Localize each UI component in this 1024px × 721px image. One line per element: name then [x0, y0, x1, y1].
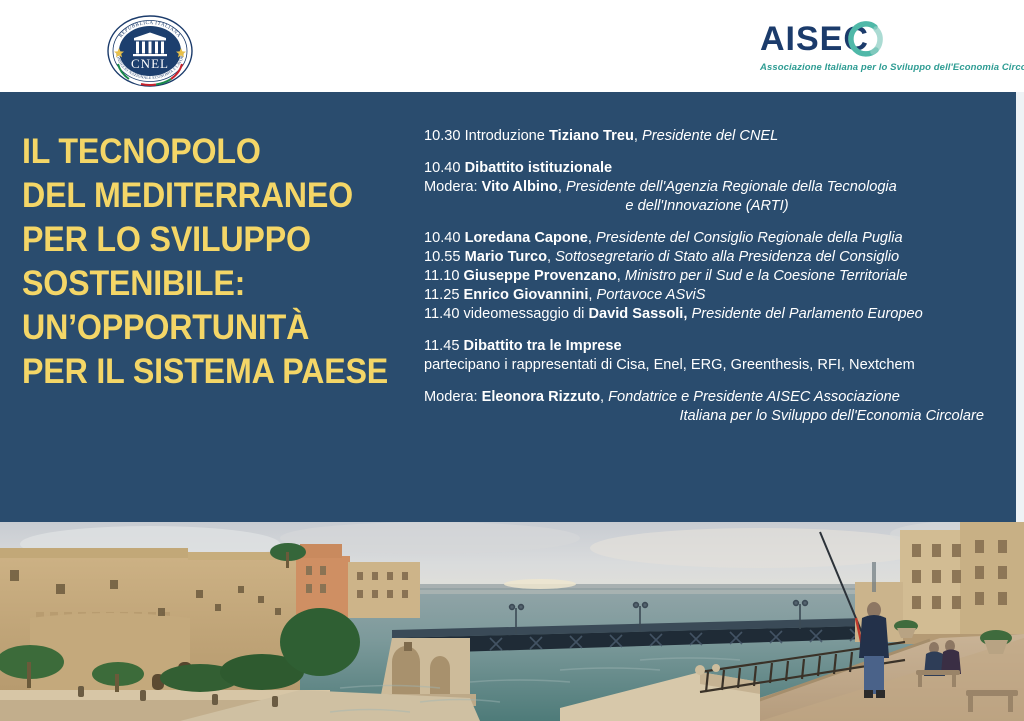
speaker-role: Sottosegretario di Stato alla Presidenza… — [555, 249, 899, 265]
comma: , — [600, 389, 604, 405]
title-line-6: PER IL SISTEMA PAESE — [22, 350, 372, 394]
companies-participants: partecipano i rappresentati di Cisa, Ene… — [424, 356, 990, 375]
speaker-time: 10.55 — [424, 249, 461, 265]
speaker-time: 11.40 — [424, 306, 459, 322]
speaker-time: 11.10 — [424, 268, 459, 284]
cnel-logo: CNEL REPUBBLICA ITALIANA CONSIGLIO NAZIO… — [96, 14, 204, 88]
svg-text:CNEL: CNEL — [131, 56, 169, 71]
speaker-role: Presidente del Consiglio Regionale della… — [596, 230, 903, 246]
taranto-waterfront-photo — [0, 522, 1024, 721]
comma: , — [634, 128, 638, 144]
moderator2-role-line2: Italiana per lo Sviluppo dell'Economia C… — [424, 407, 990, 426]
speaker-role: Portavoce ASviS — [597, 287, 706, 303]
program-line: e dell'Innovazione (ARTI) — [424, 197, 990, 216]
intro-name: Tiziano Treu — [549, 128, 634, 144]
title-line-5: UN’OPPORTUNITÀ — [22, 306, 372, 350]
program-line: Italiana per lo Sviluppo dell'Economia C… — [424, 407, 990, 426]
comma: , — [588, 230, 592, 246]
poster-title: IL TECNOPOLO DEL MEDITERRANEO PER LO SVI… — [22, 130, 372, 394]
title-line-2: DEL MEDITERRANEO — [22, 174, 372, 218]
comma: , — [547, 249, 551, 265]
debate-time: 10.40 — [424, 160, 461, 176]
program-item-institutional-debate: 10.40 Dibattito istituzionale Modera: Vi… — [424, 159, 990, 216]
moderator-name: Vito Albino — [482, 179, 558, 195]
intro-time: 10.30 — [424, 128, 461, 144]
debate-heading: Dibattito istituzionale — [465, 160, 613, 176]
title-line-3: PER LO SVILUPPO — [22, 218, 372, 262]
program-line: 10.40 Dibattito istituzionale — [424, 159, 990, 178]
moderator2-name: Eleonora Rizzuto — [482, 389, 600, 405]
comma: , — [617, 268, 621, 284]
speaker-row: 11.25 Enrico Giovannini, Portavoce ASviS — [424, 286, 990, 305]
intro-role: Presidente del CNEL — [642, 128, 778, 144]
companies-time: 11.45 — [424, 338, 459, 354]
companies-heading: Dibattito tra le Imprese — [464, 338, 622, 354]
moderator-role-line2: e dell'Innovazione (ARTI) — [424, 197, 990, 216]
program-schedule: 10.30 Introduzione Tiziano Treu, Preside… — [424, 127, 990, 426]
moderator2-role-line1: Fondatrice e Presidente AISEC Associazio… — [608, 389, 900, 405]
speaker-row: 10.40 Loredana Capone, Presidente del Co… — [424, 229, 990, 248]
speaker-name: Enrico Giovannini — [464, 287, 589, 303]
aisec-tagline: Associazione Italiana per lo Sviluppo de… — [760, 62, 1024, 73]
poster-header: CNEL REPUBBLICA ITALIANA CONSIGLIO NAZIO… — [0, 0, 1024, 92]
moderator-role-line1: Presidente dell'Agenzia Regionale della … — [566, 179, 897, 195]
speaker-role: Presidente del Parlamento Europeo — [691, 306, 922, 322]
moderator2-label: Modera: — [424, 389, 478, 405]
program-speakers-list: 10.40 Loredana Capone, Presidente del Co… — [424, 229, 990, 324]
speaker-prefix: videomessaggio di — [464, 306, 585, 322]
program-moderator-companies: Modera: Eleonora Rizzuto, Fondatrice e P… — [424, 388, 990, 426]
intro-action: Introduzione — [465, 128, 545, 144]
program-line: Modera: Eleonora Rizzuto, Fondatrice e P… — [424, 388, 990, 407]
speaker-role: Ministro per il Sud e la Coesione Territ… — [625, 268, 908, 284]
event-poster: CNEL REPUBBLICA ITALIANA CONSIGLIO NAZIO… — [0, 0, 1024, 721]
program-item-companies-debate: 11.45 Dibattito tra le Imprese partecipa… — [424, 337, 990, 375]
aisec-logo: AISEC Associazione Italiana per lo Svilu… — [756, 22, 998, 80]
speaker-name: Giuseppe Provenzano — [464, 268, 617, 284]
program-item-introduction: 10.30 Introduzione Tiziano Treu, Preside… — [424, 127, 990, 146]
main-navy-panel: IL TECNOPOLO DEL MEDITERRANEO PER LO SVI… — [0, 92, 1016, 522]
moderator-label: Modera: — [424, 179, 478, 195]
speaker-row: 10.55 Mario Turco, Sottosegretario di St… — [424, 248, 990, 267]
speaker-name: David Sassoli, — [588, 306, 687, 322]
panel-right-edge — [1016, 92, 1024, 522]
waterfront-illustration — [0, 522, 1024, 721]
comma: , — [588, 287, 592, 303]
title-line-4: SOSTENIBILE: — [22, 262, 372, 306]
speaker-time: 10.40 — [424, 230, 461, 246]
cnel-emblem-icon: CNEL REPUBBLICA ITALIANA CONSIGLIO NAZIO… — [96, 14, 204, 88]
speaker-row: 11.10 Giuseppe Provenzano, Ministro per … — [424, 267, 990, 286]
speaker-time: 11.25 — [424, 287, 459, 303]
title-line-1: IL TECNOPOLO — [22, 130, 372, 174]
comma: , — [558, 179, 562, 195]
speaker-name: Loredana Capone — [465, 230, 588, 246]
speaker-row: 11.40 videomessaggio di David Sassoli, P… — [424, 305, 990, 324]
program-line: 10.30 Introduzione Tiziano Treu, Preside… — [424, 127, 990, 146]
program-line: 11.45 Dibattito tra le Imprese — [424, 337, 990, 356]
program-line: Modera: Vito Albino, Presidente dell'Age… — [424, 178, 990, 197]
speaker-name: Mario Turco — [465, 249, 547, 265]
aisec-circle-swoosh-icon — [842, 19, 886, 63]
